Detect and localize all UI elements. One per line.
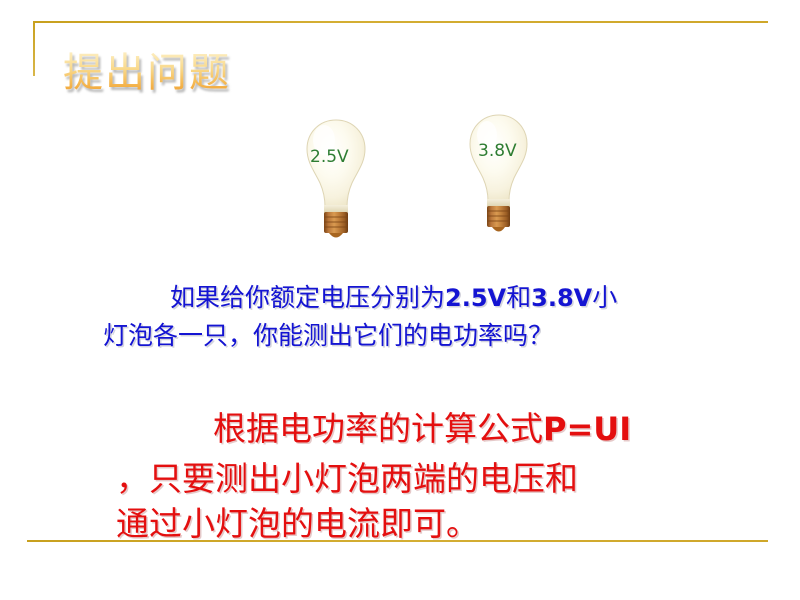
bulb-left-icon <box>296 112 376 242</box>
bulb-left-voltage-label: 2.5V <box>310 147 349 167</box>
answer-line-1: 根据电功率的计算公式P=UI <box>213 402 631 450</box>
page-title: 提出问题 <box>63 46 231 100</box>
question-line-1-mid: 和 <box>506 283 531 312</box>
bulb-right-icon <box>460 108 538 236</box>
answer-line-3: 通过小灯泡的电流即可。 <box>116 497 479 545</box>
slide-canvas: 提出问题 <box>0 0 800 600</box>
question-line-1-voltage-2: 3.8V <box>531 284 592 312</box>
light-bulb-right: 3.8V <box>460 108 538 236</box>
answer-line-2: ，只要测出小灯泡两端的电压和 <box>116 452 578 500</box>
question-line-1-pre: 如果给你额定电压分别为 <box>170 283 445 312</box>
question-line-1: 如果给你额定电压分别为2.5V和3.8V小 <box>170 278 617 314</box>
answer-line-1-pre: 根据电功率的计算公式 <box>213 409 543 448</box>
question-line-2: 灯泡各一只，你能测出它们的电功率吗？ <box>103 316 553 352</box>
light-bulb-left: 2.5V <box>296 112 376 242</box>
question-line-1-voltage-1: 2.5V <box>445 284 506 312</box>
left-gold-rule <box>33 21 35 76</box>
power-formula: P=UI <box>543 410 631 448</box>
bulb-right-voltage-label: 3.8V <box>478 141 517 161</box>
question-line-1-post: 小 <box>592 283 617 312</box>
top-gold-rule <box>33 21 768 23</box>
